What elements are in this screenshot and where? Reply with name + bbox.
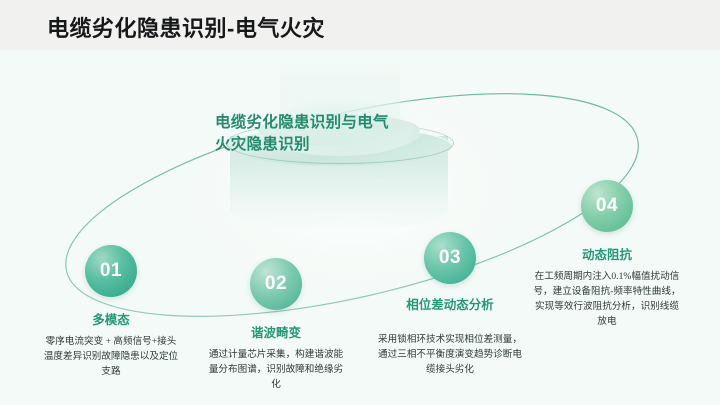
node-01-description: 零序电流突变 + 高频信号+接头温度差异识别故障隐患以及定位支路 (41, 335, 181, 380)
node-03-number-bubble[interactable]: 03 (424, 232, 476, 284)
slide-header-bar: 电缆劣化隐患识别-电气火灾 (0, 0, 720, 50)
node-03-title: 相位差动态分析 (384, 298, 516, 314)
node-01-number-bubble[interactable]: 01 (85, 245, 137, 297)
node-04-description: 在工频周期内注入0.1%幅值扰动信号，建立设备阻抗-频率特性曲线，实现等效行波阻… (531, 270, 683, 329)
node-02-number-bubble[interactable]: 02 (250, 258, 302, 310)
center-heading-line1: 电缆劣化隐患识别与电气 (215, 112, 430, 134)
page-title: 电缆劣化隐患识别-电气火灾 (47, 11, 325, 43)
slide-root: 电缆劣化隐患识别-电气火灾 (0, 0, 720, 405)
node-01-title: 多模态 (45, 313, 177, 329)
center-heading-line2: 火灾隐患识别 (215, 134, 430, 156)
node-03-description: 采用锁相环技术实现相位差测量，通过三相不平衡度演变趋势诊断电缆接头劣化 (374, 333, 526, 378)
node-04-title: 动态阻抗 (539, 248, 675, 264)
node-02-description: 通过计量芯片采集，构建谐波能量分布图谱，识别故障和绝缘劣化 (206, 348, 346, 393)
node-02-title: 谐波畸变 (210, 326, 342, 342)
center-heading: 电缆劣化隐患识别与电气 火灾隐患识别 (215, 112, 430, 157)
diagram-stage: 电缆劣化隐患识别与电气 火灾隐患识别 01 多模态 零序电流突变 + 高频信号+… (0, 50, 720, 405)
node-04-number-bubble[interactable]: 04 (581, 180, 633, 232)
